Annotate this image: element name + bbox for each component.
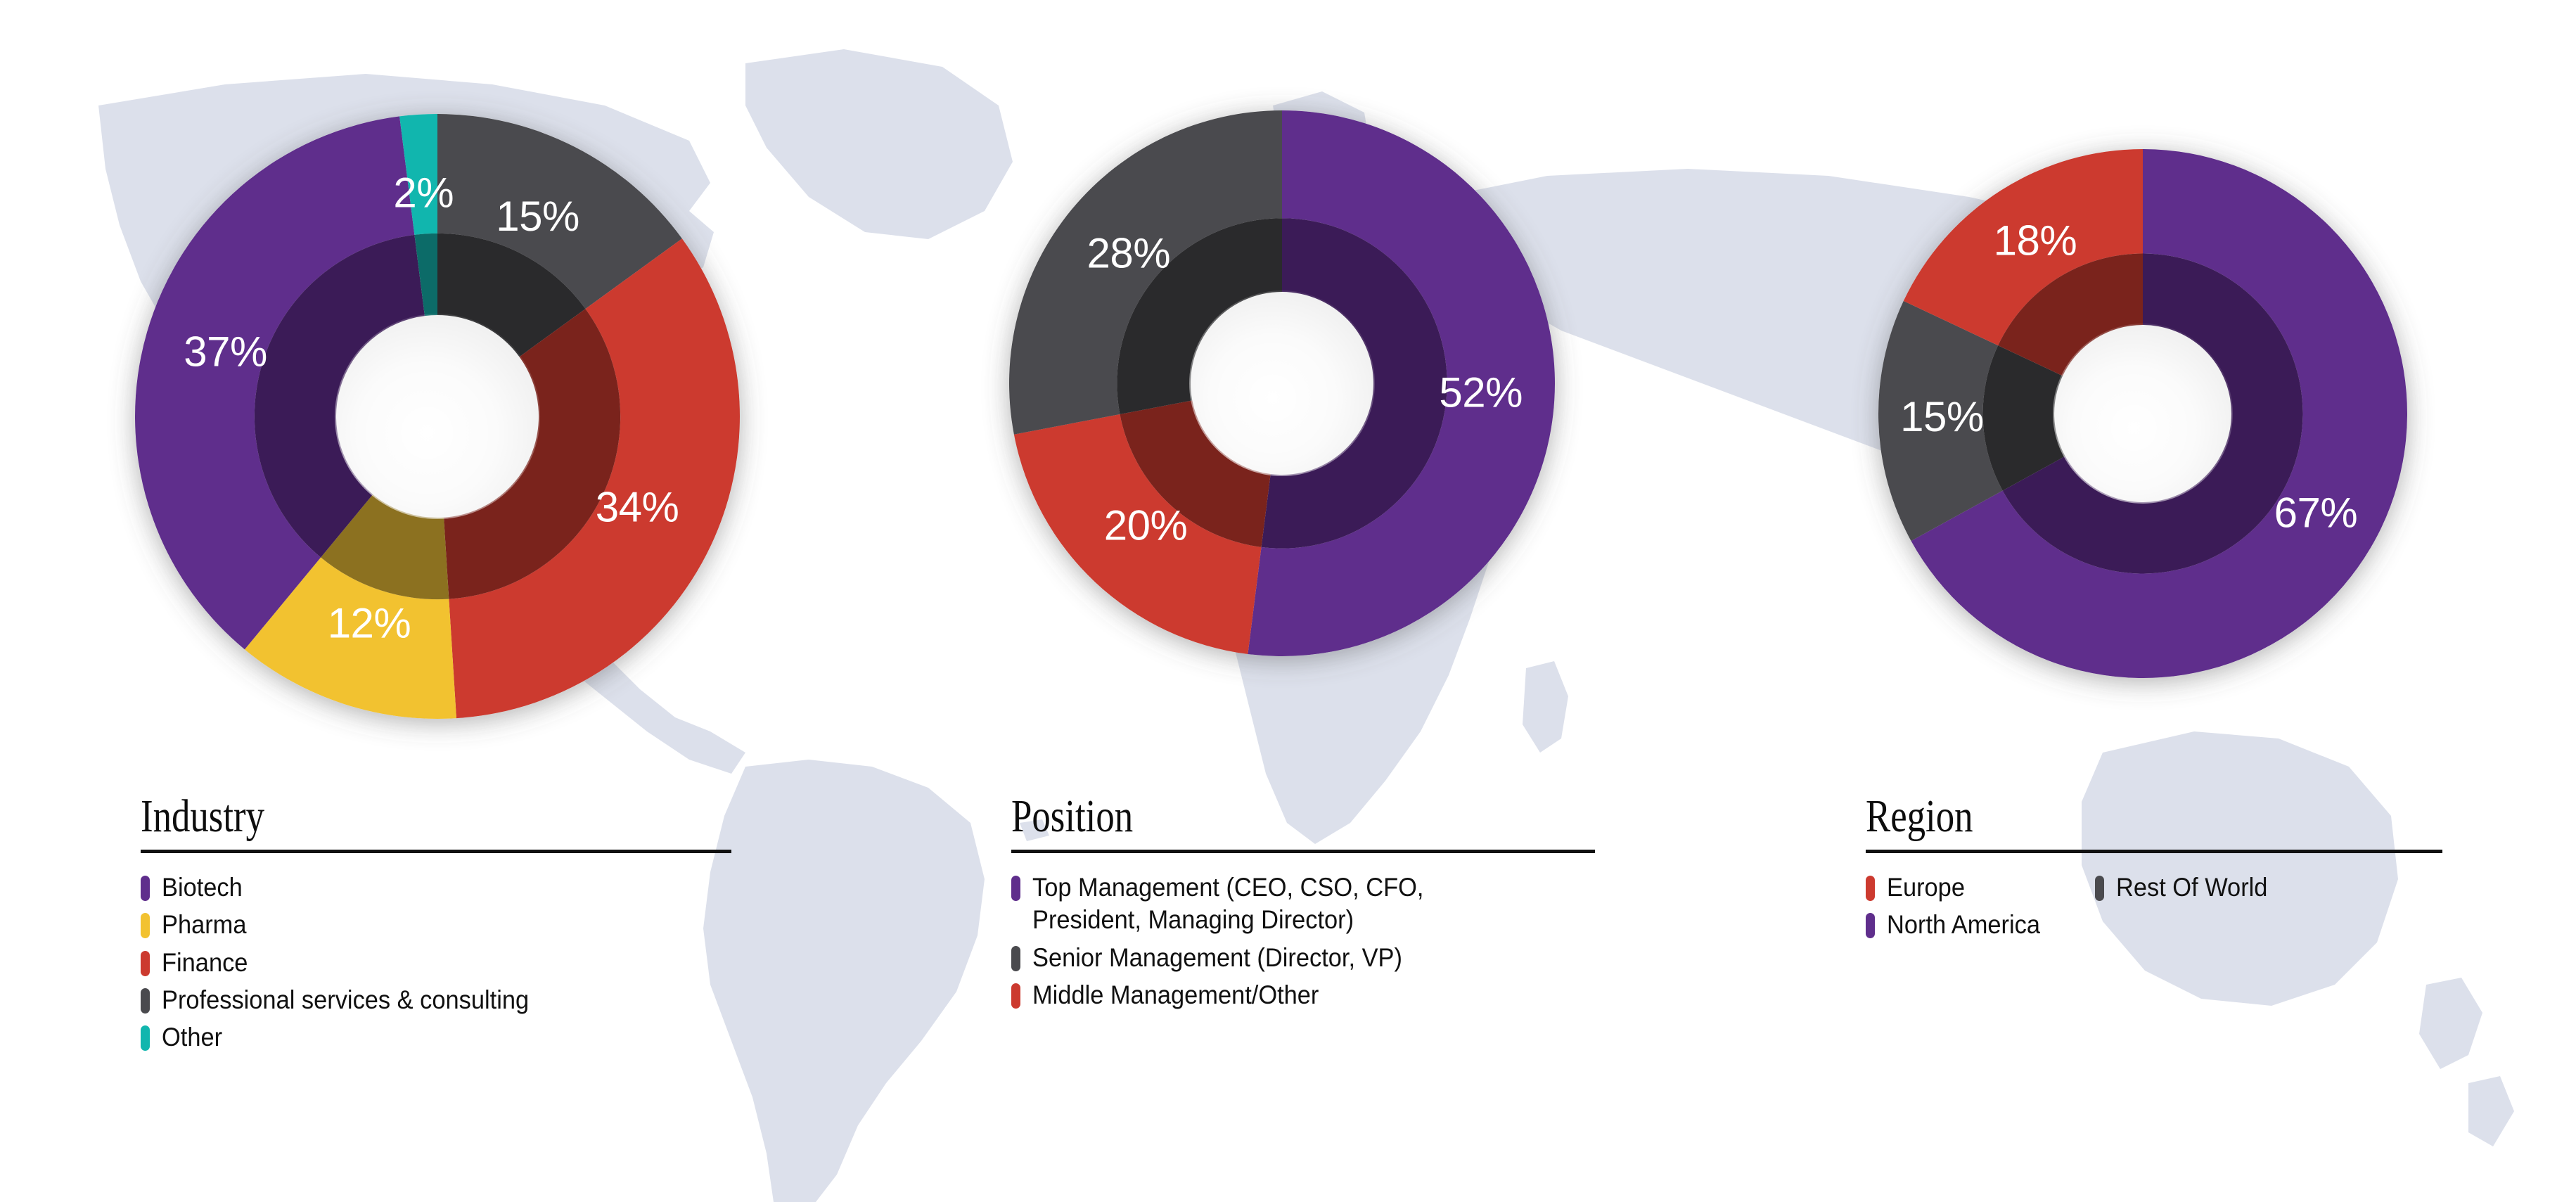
slice-percentage-label: 52% (1439, 369, 1523, 416)
legend-item-label: Middle Management/Other (1032, 979, 1319, 1011)
legend-item-label: Europe (1887, 871, 1965, 904)
legend-items-industry: BiotechPharmaFinanceProfessional service… (141, 871, 731, 1059)
donut-chart-region: 67%15%18% (1846, 117, 2440, 710)
donut-chart-industry: 15%34%12%37%2% (103, 82, 772, 751)
slice-percentage-label: 2% (393, 170, 454, 217)
legend-item[interactable]: Rest Of World (2095, 871, 2279, 904)
legend-item-label: Senior Management (Director, VP) (1032, 942, 1402, 974)
donut-center-glow (1189, 290, 1375, 476)
legend-divider (1011, 850, 1595, 853)
legend-divider (1866, 850, 2442, 853)
slice-percentage-label: 34% (596, 483, 679, 530)
legend-item[interactable]: Other (141, 1021, 556, 1054)
legend-color-swatch (1011, 983, 1020, 1009)
donut-center-glow (2053, 324, 2233, 504)
legend-color-swatch (141, 913, 150, 938)
legend-item-label: Top Management (CEO, CSO, CFO, President… (1032, 871, 1423, 937)
legend-column: BiotechPharmaFinanceProfessional service… (141, 871, 556, 1059)
legend-item[interactable]: Biotech (141, 871, 556, 904)
legend-region: Region EuropeNorth AmericaRest Of World (1866, 793, 2442, 947)
legend-color-swatch (141, 988, 150, 1014)
legend-item[interactable]: Top Management (CEO, CSO, CFO, President… (1011, 871, 1453, 937)
slice-percentage-label: 28% (1087, 229, 1170, 276)
legend-item-label: Biotech (162, 871, 243, 904)
legend-item[interactable]: Senior Management (Director, VP) (1011, 942, 1453, 974)
slice-percentage-label: 18% (1994, 217, 2077, 264)
donut-center-glow (335, 314, 540, 519)
legend-position: Position Top Management (CEO, CSO, CFO, … (1011, 793, 1595, 1016)
legend-color-swatch (1866, 876, 1875, 901)
legend-column: EuropeNorth America (1866, 871, 2051, 947)
slice-percentage-label: 15% (496, 193, 579, 240)
slice-percentage-label: 67% (2274, 489, 2358, 536)
legend-item[interactable]: Middle Management/Other (1011, 979, 1453, 1011)
legend-divider (141, 850, 731, 853)
donut-chart-position: 52%20%28% (977, 78, 1587, 689)
slice-percentage-label: 12% (328, 599, 411, 646)
legend-item[interactable]: Finance (141, 947, 556, 979)
legend-color-swatch (1011, 876, 1020, 901)
legend-item-label: Other (162, 1021, 222, 1054)
legend-item[interactable]: Europe (1866, 871, 2051, 904)
legend-industry: Industry BiotechPharmaFinanceProfessiona… (141, 793, 731, 1059)
legend-color-swatch (141, 951, 150, 976)
legend-items-region: EuropeNorth AmericaRest Of World (1866, 871, 2442, 947)
legend-color-swatch (1866, 913, 1875, 938)
slice-percentage-label: 15% (1900, 393, 1984, 440)
legend-color-swatch (1011, 946, 1020, 971)
legend-color-swatch (141, 876, 150, 901)
legend-item-label: Finance (162, 947, 248, 979)
legend-color-swatch (141, 1025, 150, 1051)
legend-item-label: North America (1887, 909, 2040, 941)
slice-percentage-label: 20% (1104, 501, 1188, 549)
legend-column: Rest Of World (2095, 871, 2279, 947)
legend-item[interactable]: Pharma (141, 909, 556, 941)
legend-items-position: Top Management (CEO, CSO, CFO, President… (1011, 871, 1595, 1016)
legend-item-label: Rest Of World (2116, 871, 2267, 904)
legend-title-industry: Industry (141, 793, 613, 840)
legend-item[interactable]: North America (1866, 909, 2051, 941)
slice-percentage-label: 37% (184, 328, 267, 375)
legend-item[interactable]: Professional services & consulting (141, 984, 556, 1016)
legend-color-swatch (2095, 876, 2104, 901)
legend-title-position: Position (1011, 793, 1478, 840)
legend-item-label: Pharma (162, 909, 246, 941)
legend-column: Top Management (CEO, CSO, CFO, President… (1011, 871, 1453, 1016)
legend-item-label: Professional services & consulting (162, 984, 529, 1016)
legend-title-region: Region (1866, 793, 2327, 840)
